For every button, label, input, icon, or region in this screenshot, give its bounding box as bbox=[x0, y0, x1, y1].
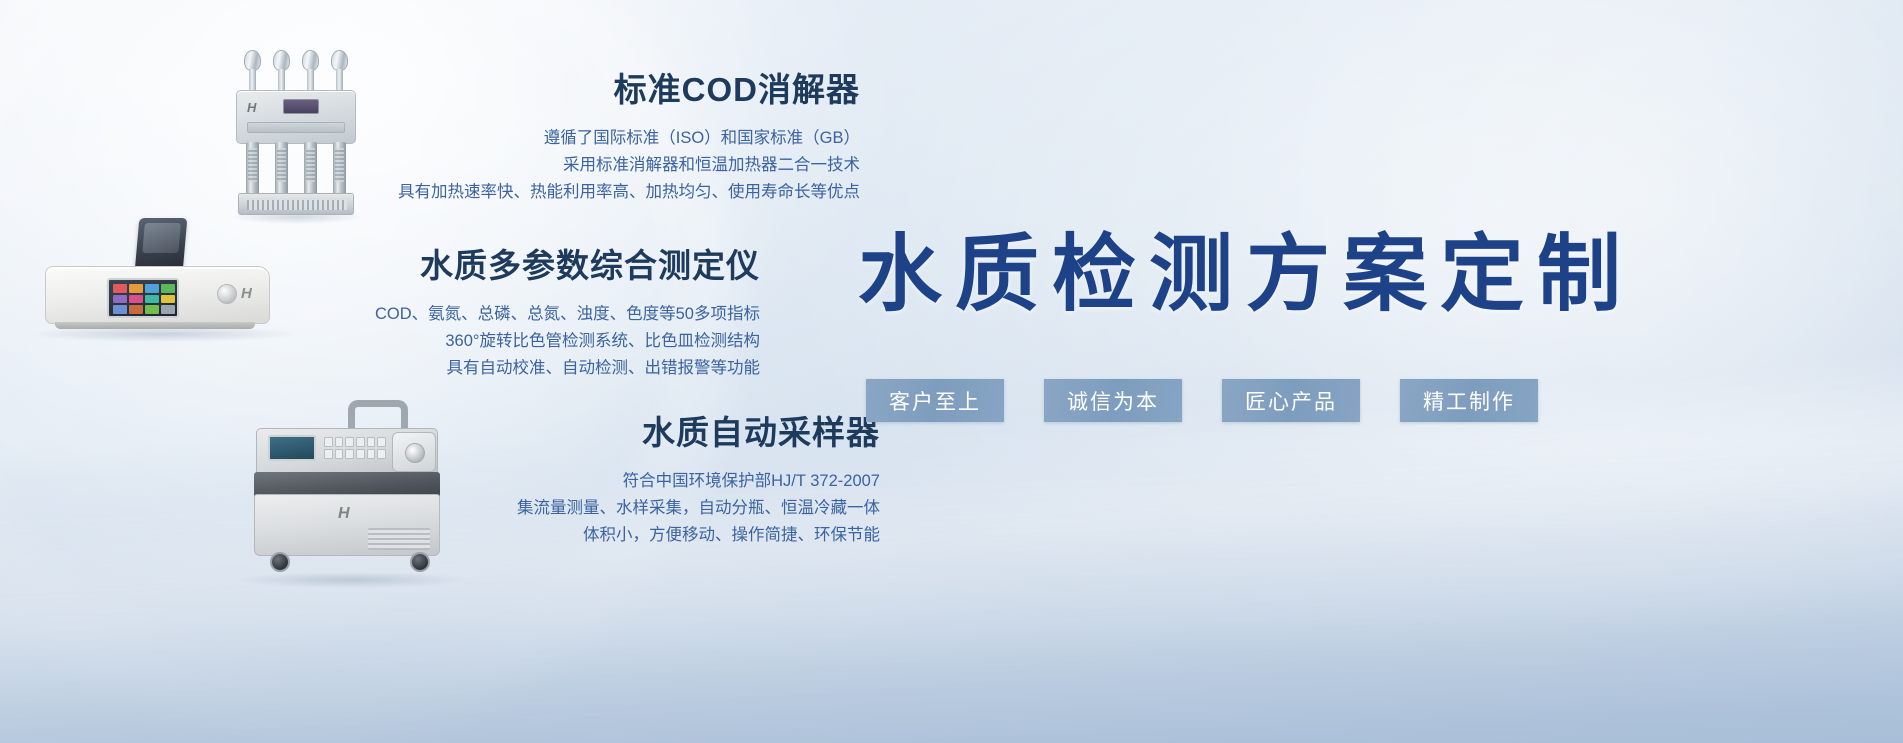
analyzer-touch-screen bbox=[107, 278, 179, 318]
product-block-auto-sampler: 水质自动采样器 符合中国环境保护部HJ/T 372-2007 集流量测量、水样采… bbox=[360, 415, 880, 548]
product-feature-line: 具有加热速率快、热能利用率高、加热均匀、使用寿命长等优点 bbox=[300, 179, 860, 206]
product-feature-line: COD、氨氮、总磷、总氮、浊度、色度等50多项指标 bbox=[180, 301, 760, 328]
slogan-badge-group: 客户至上 诚信为本 匠心产品 精工制作 bbox=[866, 379, 1538, 422]
slogan-badge-integrity[interactable]: 诚信为本 bbox=[1044, 379, 1182, 422]
slogan-badge-craftsmanship[interactable]: 匠心产品 bbox=[1222, 379, 1360, 422]
slogan-badge-customer-first[interactable]: 客户至上 bbox=[866, 379, 1004, 422]
product-feature-line: 体积小，方便移动、操作简捷、环保节能 bbox=[360, 522, 880, 549]
slogan-badge-fine-workmanship[interactable]: 精工制作 bbox=[1400, 379, 1538, 422]
product-feature-line: 具有自动校准、自动检测、出错报警等功能 bbox=[180, 355, 760, 382]
hero-title: 水质检测方案定制 bbox=[858, 232, 1634, 316]
product-feature-line: 符合中国环境保护部HJ/T 372-2007 bbox=[360, 468, 880, 495]
product-title: 水质自动采样器 bbox=[360, 415, 880, 451]
product-block-multi-parameter-analyzer: 水质多参数综合测定仪 COD、氨氮、总磷、总氮、浊度、色度等50多项指标 360… bbox=[180, 248, 760, 381]
product-feature-line: 集流量测量、水样采集，自动分瓶、恒温冷藏一体 bbox=[360, 495, 880, 522]
sampler-display-screen bbox=[268, 435, 316, 461]
water-quality-banner: H 标准COD消解器 遵循了国际标准（ISO）和国家标准（GB） 采用标准消解器… bbox=[0, 0, 1903, 743]
cod-brand-mark: H bbox=[247, 100, 267, 116]
sampler-brand-mark: H bbox=[338, 504, 362, 524]
product-feature-line: 采用标准消解器和恒温加热器二合一技术 bbox=[300, 152, 860, 179]
product-title: 标准COD消解器 bbox=[300, 72, 860, 108]
product-title: 水质多参数综合测定仪 bbox=[180, 248, 760, 284]
product-feature-line: 遵循了国际标准（ISO）和国家标准（GB） bbox=[300, 125, 860, 152]
product-block-cod-digester: 标准COD消解器 遵循了国际标准（ISO）和国家标准（GB） 采用标准消解器和恒… bbox=[300, 72, 860, 205]
product-feature-line: 360°旋转比色管检测系统、比色皿检测结构 bbox=[180, 328, 760, 355]
